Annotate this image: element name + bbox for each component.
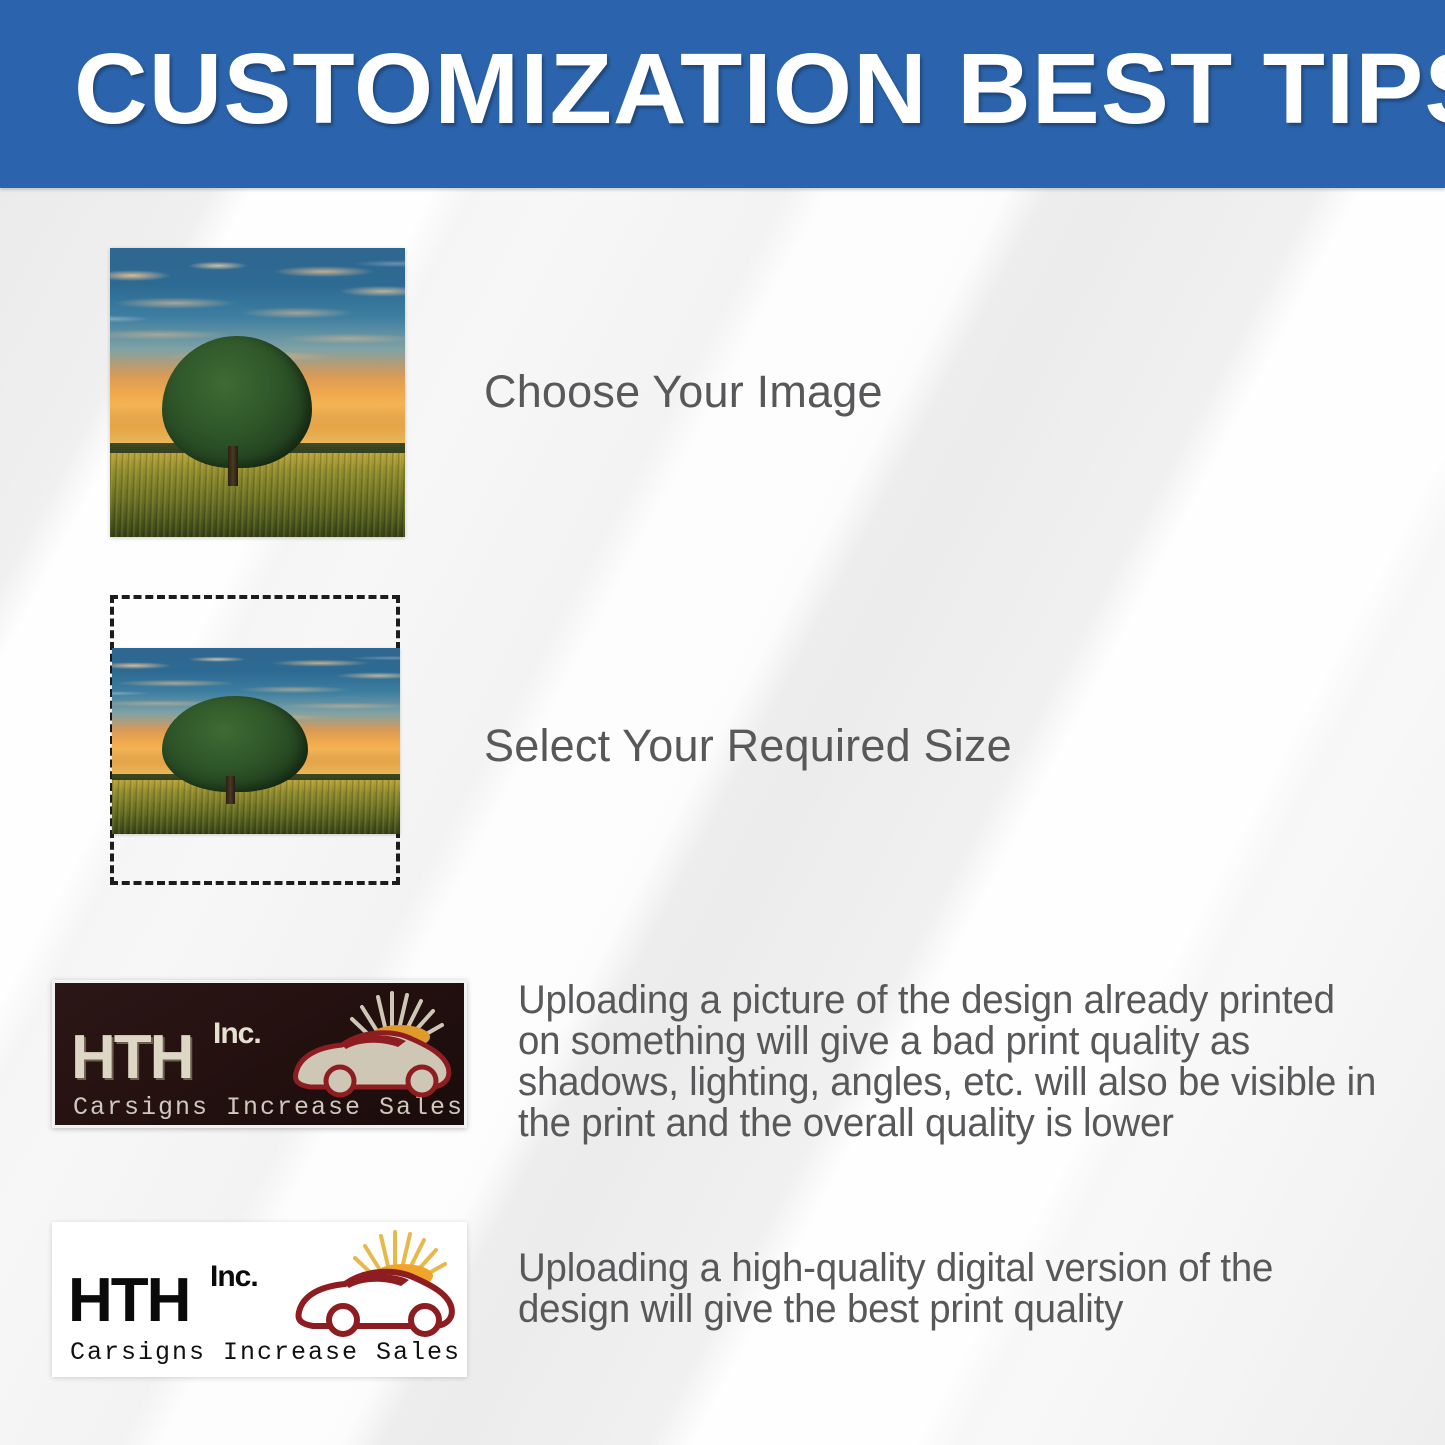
car-rear-wheel	[408, 1067, 436, 1095]
tree-canopy	[162, 696, 308, 792]
car-front-wheel	[326, 1067, 354, 1095]
step-label-good-upload: Uploading a high-quality digital version…	[518, 1248, 1363, 1330]
car-emblem	[280, 989, 460, 1109]
logo-content: HTH Inc. Carsigns Increase Sales	[55, 983, 464, 1125]
logo-wordmark: HTH	[68, 1270, 189, 1332]
car-emblem	[283, 1228, 463, 1348]
logo-content: HTH Inc. Carsigns Increase Sales	[52, 1222, 467, 1377]
car-rear-wheel	[411, 1306, 439, 1334]
resized-image-thumbnail[interactable]	[112, 648, 400, 834]
tree-trunk	[226, 776, 235, 804]
step-label-select-size: Select Your Required Size	[484, 720, 1012, 772]
step-label-choose-image: Choose Your Image	[484, 366, 883, 418]
car-sunburst-icon	[283, 1228, 463, 1348]
bad-quality-logo-photo[interactable]: HTH Inc. Carsigns Increase Sales	[52, 980, 467, 1128]
logo-inc-suffix: Inc.	[213, 1019, 261, 1049]
car-front-wheel	[329, 1306, 357, 1334]
tree-trunk	[228, 446, 238, 486]
infographic-page: CUSTOMIZATION BEST TIPS Choose Your Imag…	[0, 0, 1445, 1445]
header-banner: CUSTOMIZATION BEST TIPS	[0, 0, 1445, 188]
logo-inc-suffix: Inc.	[210, 1262, 258, 1292]
original-image-thumbnail[interactable]	[110, 248, 405, 537]
good-quality-logo-digital[interactable]: HTH Inc. Carsigns Increase Sales	[52, 1222, 467, 1377]
page-title: CUSTOMIZATION BEST TIPS	[74, 34, 1431, 144]
step-label-bad-upload: Uploading a picture of the design alread…	[518, 980, 1382, 1144]
car-sunburst-icon	[280, 989, 460, 1109]
logo-wordmark: HTH	[71, 1027, 192, 1089]
